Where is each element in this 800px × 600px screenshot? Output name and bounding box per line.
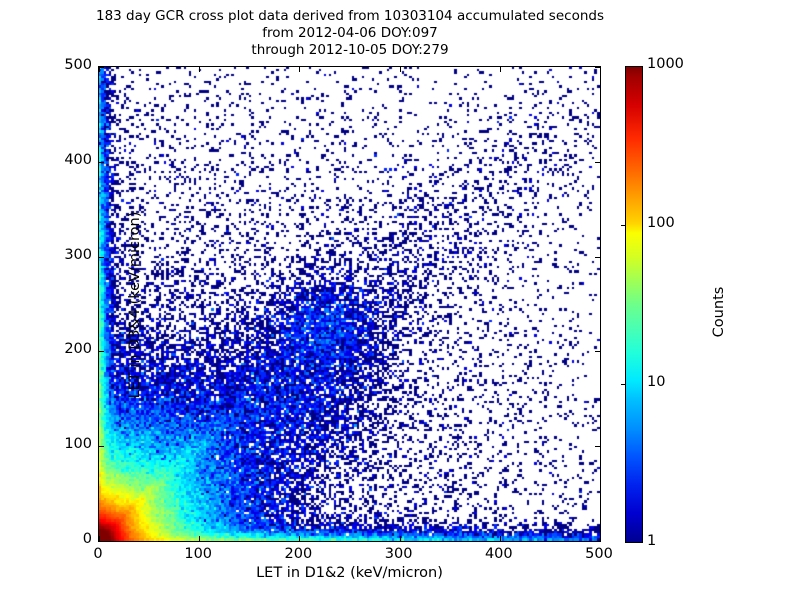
y-tick-right xyxy=(595,257,600,258)
y-tick-label: 500 xyxy=(32,57,92,73)
x-axis-label: LET in D1&2 (keV/micron) xyxy=(98,565,601,581)
x-tick xyxy=(400,536,401,541)
x-tick-label: 300 xyxy=(369,546,429,562)
x-tick xyxy=(299,536,300,541)
y-tick xyxy=(99,541,104,542)
colorbar-tick-label: 1 xyxy=(647,533,656,549)
y-tick-label: 300 xyxy=(32,247,92,263)
x-tick-top xyxy=(600,67,601,72)
title-line-1: 183 day GCR cross plot data derived from… xyxy=(0,8,700,25)
plot-area xyxy=(98,66,601,542)
x-tick-top xyxy=(299,67,300,72)
colorbar-tick-label: 100 xyxy=(647,215,675,231)
x-tick xyxy=(199,536,200,541)
y-tick-right xyxy=(595,446,600,447)
x-tick-top xyxy=(400,67,401,72)
x-tick xyxy=(500,536,501,541)
y-tick-right xyxy=(595,67,600,68)
x-tick-label: 0 xyxy=(68,546,128,562)
x-tick-top xyxy=(500,67,501,72)
y-tick-right xyxy=(595,351,600,352)
x-tick-top xyxy=(199,67,200,72)
x-tick-label: 500 xyxy=(569,546,629,562)
colorbar-container xyxy=(625,66,643,543)
colorbar-gradient xyxy=(625,66,643,543)
x-tick xyxy=(600,536,601,541)
y-tick xyxy=(99,67,104,68)
y-tick-label: 200 xyxy=(32,341,92,357)
scatter-density-plot xyxy=(99,67,600,541)
y-tick xyxy=(99,446,104,447)
y-tick-right xyxy=(595,541,600,542)
y-tick-label: 100 xyxy=(32,436,92,452)
x-tick-label: 100 xyxy=(168,546,228,562)
colorbar-tick xyxy=(621,225,626,226)
colorbar-tick xyxy=(621,384,626,385)
y-tick xyxy=(99,351,104,352)
colorbar-label: Counts xyxy=(711,202,727,422)
colorbar-tick-label: 10 xyxy=(647,374,665,390)
colorbar-tick-label: 1000 xyxy=(647,56,684,72)
y-tick-label: 0 xyxy=(32,531,92,547)
y-tick-right xyxy=(595,162,600,163)
y-tick xyxy=(99,257,104,258)
y-axis-label: LET in D3&4 (keV/micron) xyxy=(127,67,143,543)
y-tick-label: 400 xyxy=(32,152,92,168)
title-line-2: from 2012-04-06 DOY:097 xyxy=(0,25,700,42)
chart-title: 183 day GCR cross plot data derived from… xyxy=(0,8,700,59)
title-line-3: through 2012-10-05 DOY:279 xyxy=(0,42,700,59)
x-tick-label: 200 xyxy=(268,546,328,562)
y-tick xyxy=(99,162,104,163)
x-tick-label: 400 xyxy=(469,546,529,562)
